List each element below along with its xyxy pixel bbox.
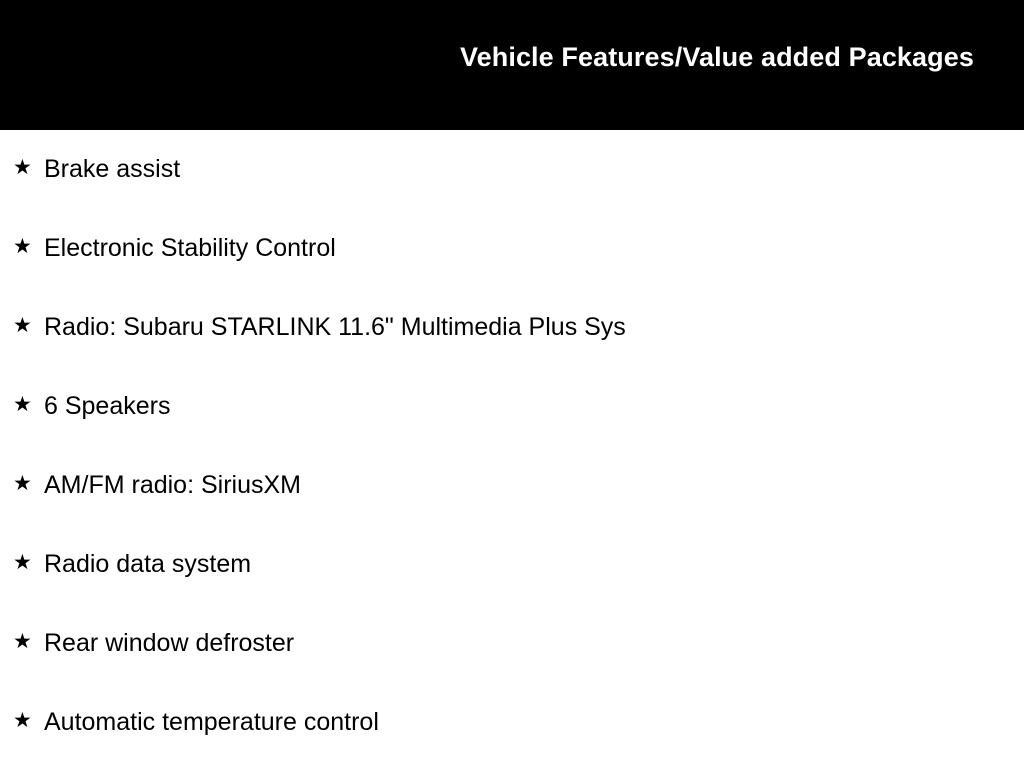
star-bullet-icon: ★ — [13, 315, 44, 336]
star-bullet-icon: ★ — [13, 552, 44, 573]
star-bullet-icon: ★ — [13, 710, 44, 731]
list-item: ★ AM/FM radio: SiriusXM — [0, 446, 1024, 525]
list-item: ★ 6 Speakers — [0, 367, 1024, 446]
star-bullet-icon: ★ — [13, 394, 44, 415]
vehicle-features-list: ★ Brake assist ★ Electronic Stability Co… — [0, 130, 1024, 762]
feature-label: Radio: Subaru STARLINK 11.6" Multimedia … — [44, 315, 626, 340]
page-title: Vehicle Features/Value added Packages — [460, 43, 974, 73]
feature-label: 6 Speakers — [44, 394, 170, 419]
vehicle-features-page: Vehicle Features/Value added Packages ★ … — [0, 0, 1024, 768]
feature-label: Brake assist — [44, 157, 180, 182]
header-banner: Vehicle Features/Value added Packages — [0, 0, 1024, 130]
star-bullet-icon: ★ — [13, 631, 44, 652]
list-item: ★ Radio: Subaru STARLINK 11.6" Multimedi… — [0, 288, 1024, 367]
list-item: ★ Automatic temperature control — [0, 683, 1024, 762]
feature-label: Rear window defroster — [44, 631, 294, 656]
star-bullet-icon: ★ — [13, 157, 44, 178]
feature-label: Electronic Stability Control — [44, 236, 336, 261]
list-item: ★ Electronic Stability Control — [0, 209, 1024, 288]
feature-label: Automatic temperature control — [44, 710, 379, 735]
list-item: ★ Radio data system — [0, 525, 1024, 604]
feature-label: Radio data system — [44, 552, 251, 577]
list-item: ★ Rear window defroster — [0, 604, 1024, 683]
feature-label: AM/FM radio: SiriusXM — [44, 473, 301, 498]
star-bullet-icon: ★ — [13, 236, 44, 257]
list-item: ★ Brake assist — [0, 130, 1024, 209]
star-bullet-icon: ★ — [13, 473, 44, 494]
